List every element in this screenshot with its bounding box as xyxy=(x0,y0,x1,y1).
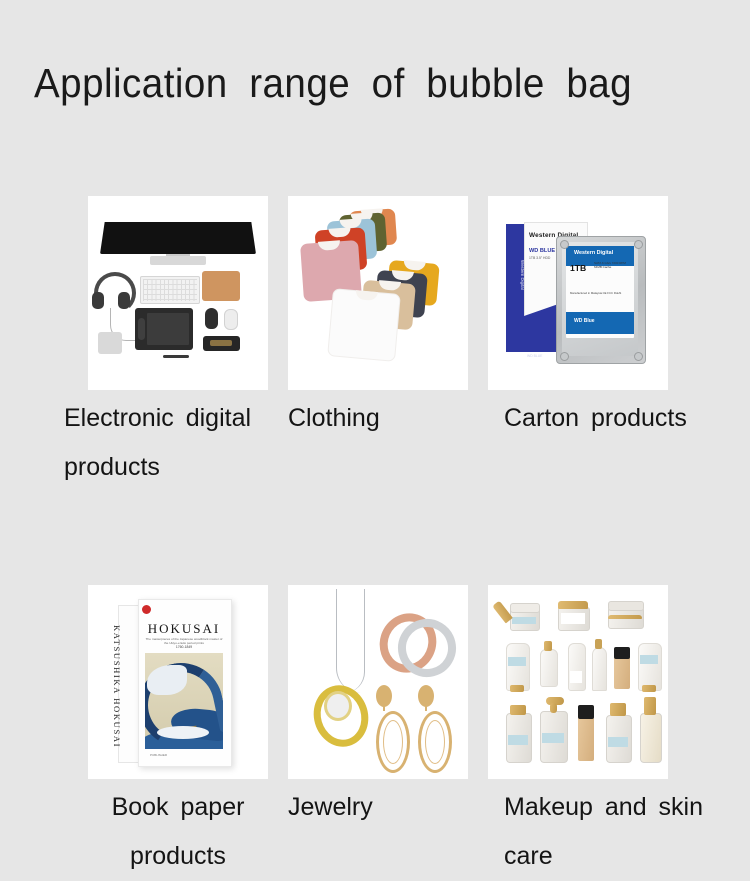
cream-jar-1-lid xyxy=(510,603,540,613)
folded-tshirts-illustration xyxy=(288,196,468,390)
screw-top-right-icon xyxy=(634,240,643,249)
earring-loop-right xyxy=(418,711,452,773)
necklace-chain-right-icon xyxy=(344,589,365,693)
caption-carton-products: Carton products xyxy=(504,390,704,443)
screw-bottom-left-icon xyxy=(560,352,569,361)
wd-hard-drive-illustration: Western Digital WD BLUE Western Digital … xyxy=(488,196,668,390)
headphone-cup-left-icon xyxy=(92,292,104,309)
grid-cell-clothing[interactable]: Clothing xyxy=(288,196,468,492)
cream-jar-1-label xyxy=(512,617,536,624)
earring-stud-left xyxy=(376,685,392,707)
mist-bottle-label xyxy=(570,671,582,683)
tablet-buttons-icon xyxy=(138,318,145,340)
electronic-digital-products-photo[interactable] xyxy=(88,196,268,390)
cone-bottle-icon xyxy=(592,647,607,691)
mouse-dark-icon xyxy=(205,308,218,329)
lotion-bottle-1-cap xyxy=(510,705,526,715)
grid-cell-makeup-skin-care[interactable]: Makeup and skin care xyxy=(488,585,668,881)
pump-neck-icon xyxy=(550,703,557,713)
hard-drive-specs-text: SATA 6 Gb/s 7200 RPM 64MB Cache xyxy=(594,262,632,270)
earring-stud-right xyxy=(418,685,434,707)
headphone-cup-right-icon xyxy=(118,292,130,309)
cream-tube-2-cap xyxy=(642,685,656,692)
grid-cell-carton-products[interactable]: Western Digital WD BLUE Western Digital … xyxy=(488,196,668,492)
artwork-foam xyxy=(157,726,209,739)
book-title-text: HOKUSAI xyxy=(138,621,230,637)
cream-tube-2-icon xyxy=(638,643,662,691)
serum-bottle-icon xyxy=(540,649,558,687)
foundation-bottle-2-cap xyxy=(578,705,594,719)
cream-tube-2-label xyxy=(640,655,658,664)
book-spine-text: KATSUSHIKA HOKUSAI xyxy=(112,625,122,765)
clothing-photo[interactable] xyxy=(288,196,468,390)
stylus-icon xyxy=(163,355,189,358)
cone-bottle-cap xyxy=(595,639,602,649)
perfume-bottle-icon xyxy=(640,713,662,763)
keyboard-icon xyxy=(140,276,200,304)
caption-jewelry: Jewelry xyxy=(288,779,468,832)
external-hard-drive-icon xyxy=(98,332,122,354)
pump-bottle-label xyxy=(542,733,564,743)
grid-cell-jewelry[interactable]: Jewelry xyxy=(288,585,468,881)
cream-tube-1-cap xyxy=(510,685,524,692)
foundation-bottle-2-icon xyxy=(578,717,594,761)
product-grid: Electronic digital products xyxy=(88,196,668,881)
hard-drive-footer-text: WD Blue xyxy=(574,318,595,324)
pendant-gem-icon xyxy=(324,691,352,721)
wd-box-side-panel: Western Digital WD BLUE xyxy=(506,224,524,352)
monitor-foot-icon xyxy=(150,256,206,265)
mist-bottle-icon xyxy=(568,643,586,691)
cream-jar-2-label xyxy=(561,613,585,624)
cream-tube-1-label xyxy=(508,657,526,666)
great-wave-artwork xyxy=(145,653,223,749)
pencil-case-icon xyxy=(203,336,240,351)
wd-box-model-sub-text: 1TB 3.5" HDD xyxy=(529,256,550,260)
earring-loop-left xyxy=(376,711,410,773)
book-publisher-text: PUBLISHER xyxy=(150,753,167,757)
mouse-light-icon xyxy=(224,309,238,330)
carton-products-photo[interactable]: Western Digital WD BLUE Western Digital … xyxy=(488,196,668,390)
cream-jar-2-gold-lid xyxy=(558,601,588,609)
grid-cell-book-paper-products[interactable]: KATSUSHIKA HOKUSAI HOKUSAI The masterpie… xyxy=(88,585,268,881)
cream-jar-3-gold-band xyxy=(608,615,642,619)
perfume-bottle-cap xyxy=(644,697,656,715)
desk-flatlay-illustration xyxy=(88,196,268,390)
hard-drive-cert-text: Manufactured in Malaysia CE FCC RoHS xyxy=(570,292,628,296)
earring-stem-left xyxy=(383,705,385,711)
lotion-bottle-2-label xyxy=(608,737,628,747)
hard-drive-capacity-text: 1TB xyxy=(570,263,586,273)
caption-book-paper-products: Book paper products xyxy=(88,779,268,881)
poster-page: Application range of bubble bag xyxy=(0,0,750,750)
foundation-bottle-1-icon xyxy=(614,657,630,689)
caption-clothing: Clothing xyxy=(288,390,468,443)
lotion-bottle-2-cap xyxy=(610,703,626,716)
red-circle-icon xyxy=(142,605,151,614)
screw-top-left-icon xyxy=(560,240,569,249)
caption-makeup-skin-care: Makeup and skin care xyxy=(504,779,704,881)
book-year-text: 1760-1849 xyxy=(144,645,224,649)
mousepad-icon xyxy=(202,271,240,301)
artwork-wave-crest xyxy=(147,665,187,695)
wd-box-model-text: WD BLUE xyxy=(529,248,555,254)
wd-box-side-model: WD BLUE xyxy=(527,354,551,358)
hard-drive-brand-text: Western Digital xyxy=(574,250,613,256)
grid-row-2: KATSUSHIKA HOKUSAI HOKUSAI The masterpie… xyxy=(88,585,668,881)
grid-cell-electronic-digital-products[interactable]: Electronic digital products xyxy=(88,196,268,492)
lotion-bottle-1-label xyxy=(508,735,528,745)
tshirt-white-icon xyxy=(327,288,401,362)
grid-row-1: Electronic digital products xyxy=(88,196,668,492)
foundation-bottle-1-cap xyxy=(614,647,630,659)
monitor-icon xyxy=(100,222,256,254)
caption-electronic-digital-products: Electronic digital products xyxy=(64,390,290,492)
cream-jar-3-lid xyxy=(608,601,644,611)
page-title: Application range of bubble bag xyxy=(34,60,632,107)
serum-dropper-cap xyxy=(544,641,552,651)
book-subtitle-text: The masterpieces of the Japanese woodblo… xyxy=(144,637,224,645)
cream-tube-1-icon xyxy=(506,643,530,691)
earring-stem-right xyxy=(425,705,427,711)
screw-bottom-right-icon xyxy=(634,352,643,361)
